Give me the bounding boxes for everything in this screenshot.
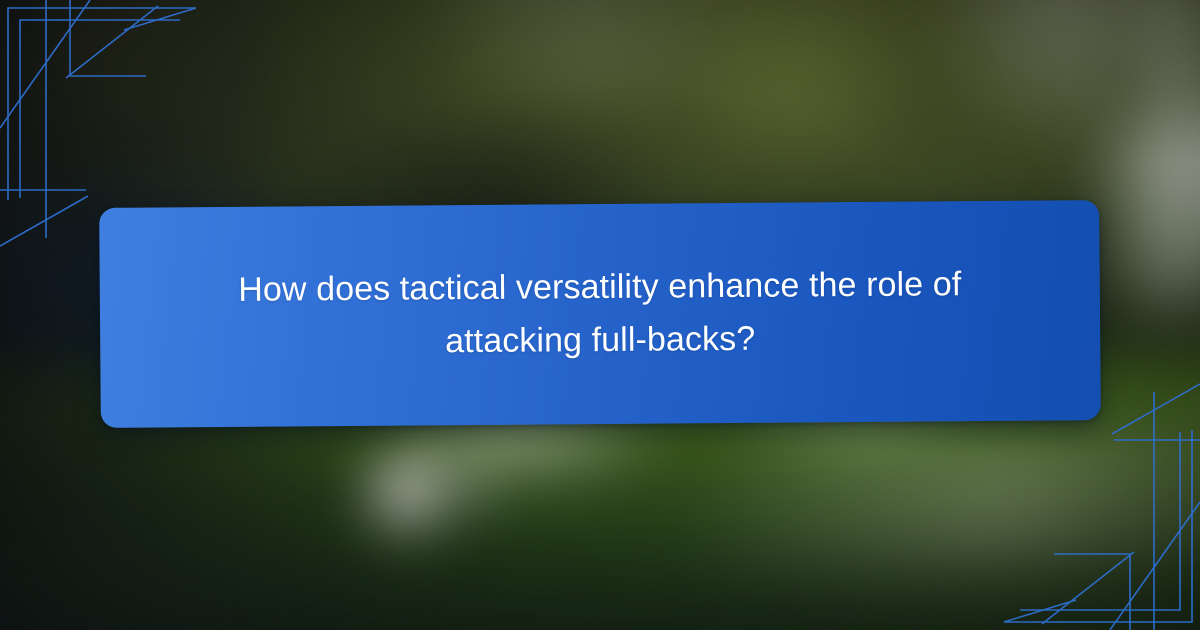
question-text: How does tactical versatility enhance th… bbox=[200, 258, 1001, 370]
question-card-wrapper: How does tactical versatility enhance th… bbox=[99, 200, 1101, 428]
question-card: How does tactical versatility enhance th… bbox=[99, 200, 1101, 428]
social-card-canvas: How does tactical versatility enhance th… bbox=[0, 0, 1200, 630]
